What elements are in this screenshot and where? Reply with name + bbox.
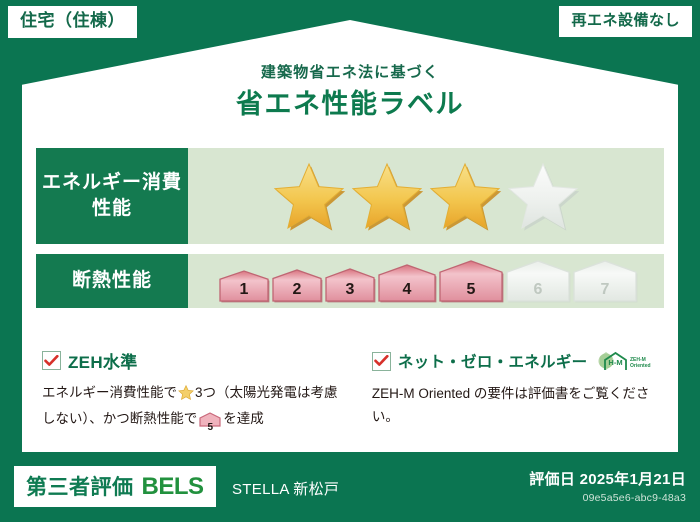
- star-empty-icon: [506, 161, 580, 231]
- house-level-2: 2: [271, 268, 323, 303]
- net-zero-energy-header: ネット・ゼロ・エネルギー H-M ZEH-M Oriented: [372, 348, 664, 374]
- energy-performance-body: [188, 148, 664, 244]
- house-level-scale: 1234567: [214, 259, 638, 303]
- bels-badge: 第三者評価 BELS: [14, 466, 216, 507]
- evaluation-date: 評価日 2025年1月21日: [529, 468, 686, 489]
- zeh-m-oriented-logo: H-M ZEH-M Oriented: [596, 348, 652, 374]
- star-rating: [272, 161, 580, 231]
- house-level-5: 5: [438, 259, 504, 303]
- footer: 第三者評価 BELS STELLA 新松戸 評価日 2025年1月21日 09e…: [0, 454, 700, 522]
- house-level-7: 7: [572, 259, 638, 303]
- zeh-standard-title: ZEH水準: [68, 348, 138, 373]
- insulation-performance-body: 1234567: [188, 254, 664, 308]
- zeh-standard-block: ZEH水準 エネルギー消費性能で3つ（太陽光発電は考慮しない）、かつ断熱性能で5…: [42, 348, 346, 434]
- star-filled-icon: [350, 161, 424, 231]
- building-type-tag-label: 住宅（住棟）: [20, 11, 125, 30]
- info-columns: ZEH水準 エネルギー消費性能で3つ（太陽光発電は考慮しない）、かつ断熱性能で5…: [42, 348, 664, 434]
- bels-en-label: BELS: [142, 473, 204, 501]
- house-level-number: 3: [324, 282, 376, 298]
- page-title: 建築物省エネ法に基づく 省エネ性能ラベル: [22, 64, 678, 120]
- zeh-check-icon: [42, 351, 61, 370]
- star-filled-icon: [272, 161, 346, 231]
- inline-house-badge: 5: [199, 411, 221, 434]
- svg-text:H-M: H-M: [609, 358, 623, 367]
- house-level-number: 5: [438, 282, 504, 298]
- page-subtitle: 建築物省エネ法に基づく: [22, 64, 678, 82]
- zeh-standard-header: ZEH水準: [42, 348, 346, 373]
- rating-rows: エネルギー消費性能 断熱性能 1234567: [36, 148, 664, 318]
- evaluation-info: 評価日 2025年1月21日 09e5a5e6-abc9-48a3: [529, 468, 686, 504]
- energy-performance-label: エネルギー消費性能: [36, 148, 188, 244]
- page-main-title: 省エネ性能ラベル: [22, 88, 678, 120]
- house-level-3: 3: [324, 267, 376, 303]
- net-zero-energy-title: ネット・ゼロ・エネルギー: [398, 350, 588, 372]
- house-level-number: 1: [218, 282, 270, 298]
- zeh-standard-description: エネルギー消費性能で3つ（太陽光発電は考慮しない）、かつ断熱性能で5を達成: [42, 381, 346, 434]
- house-level-4: 4: [377, 263, 437, 303]
- net-zero-energy-block: ネット・ゼロ・エネルギー H-M ZEH-M Oriented: [360, 348, 664, 434]
- house-level-number: 2: [271, 282, 323, 298]
- evaluation-id: 09e5a5e6-abc9-48a3: [529, 492, 686, 504]
- bels-jp-label: 第三者評価: [26, 471, 134, 501]
- label-panel: 建築物省エネ法に基づく 省エネ性能ラベル エネルギー消費性能 断熱性能 1: [22, 20, 678, 452]
- net-zero-check-icon: [372, 352, 391, 371]
- inline-star-icon: [178, 388, 194, 403]
- house-level-number: 4: [377, 282, 437, 298]
- inline-house-badge-value: 5: [199, 423, 221, 433]
- svg-text:Oriented: Oriented: [630, 363, 651, 369]
- insulation-performance-label: 断熱性能: [36, 254, 188, 308]
- energy-performance-row: エネルギー消費性能: [36, 148, 664, 244]
- insulation-performance-row: 断熱性能 1234567: [36, 254, 664, 308]
- star-filled-icon: [428, 161, 502, 231]
- building-type-tag: 住宅（住棟）: [8, 6, 137, 38]
- net-zero-energy-description: ZEH-M Oriented の要件は評価書をご覧ください。: [372, 382, 664, 428]
- evaluation-date-label: 評価日: [529, 471, 575, 488]
- house-level-number: 7: [572, 282, 638, 298]
- house-level-number: 6: [505, 282, 571, 298]
- house-level-1: 1: [218, 269, 270, 303]
- renewable-energy-tag: 再エネ設備なし: [559, 6, 692, 37]
- zeh-desc-part3: を達成: [223, 411, 264, 426]
- house-level-6: 6: [505, 259, 571, 303]
- zeh-desc-part1: エネルギー消費性能で: [42, 385, 177, 400]
- project-name: STELLA 新松戸: [232, 478, 339, 499]
- renewable-energy-tag-label: 再エネ設備なし: [571, 12, 680, 29]
- evaluation-date-value: 2025年1月21日: [580, 471, 686, 488]
